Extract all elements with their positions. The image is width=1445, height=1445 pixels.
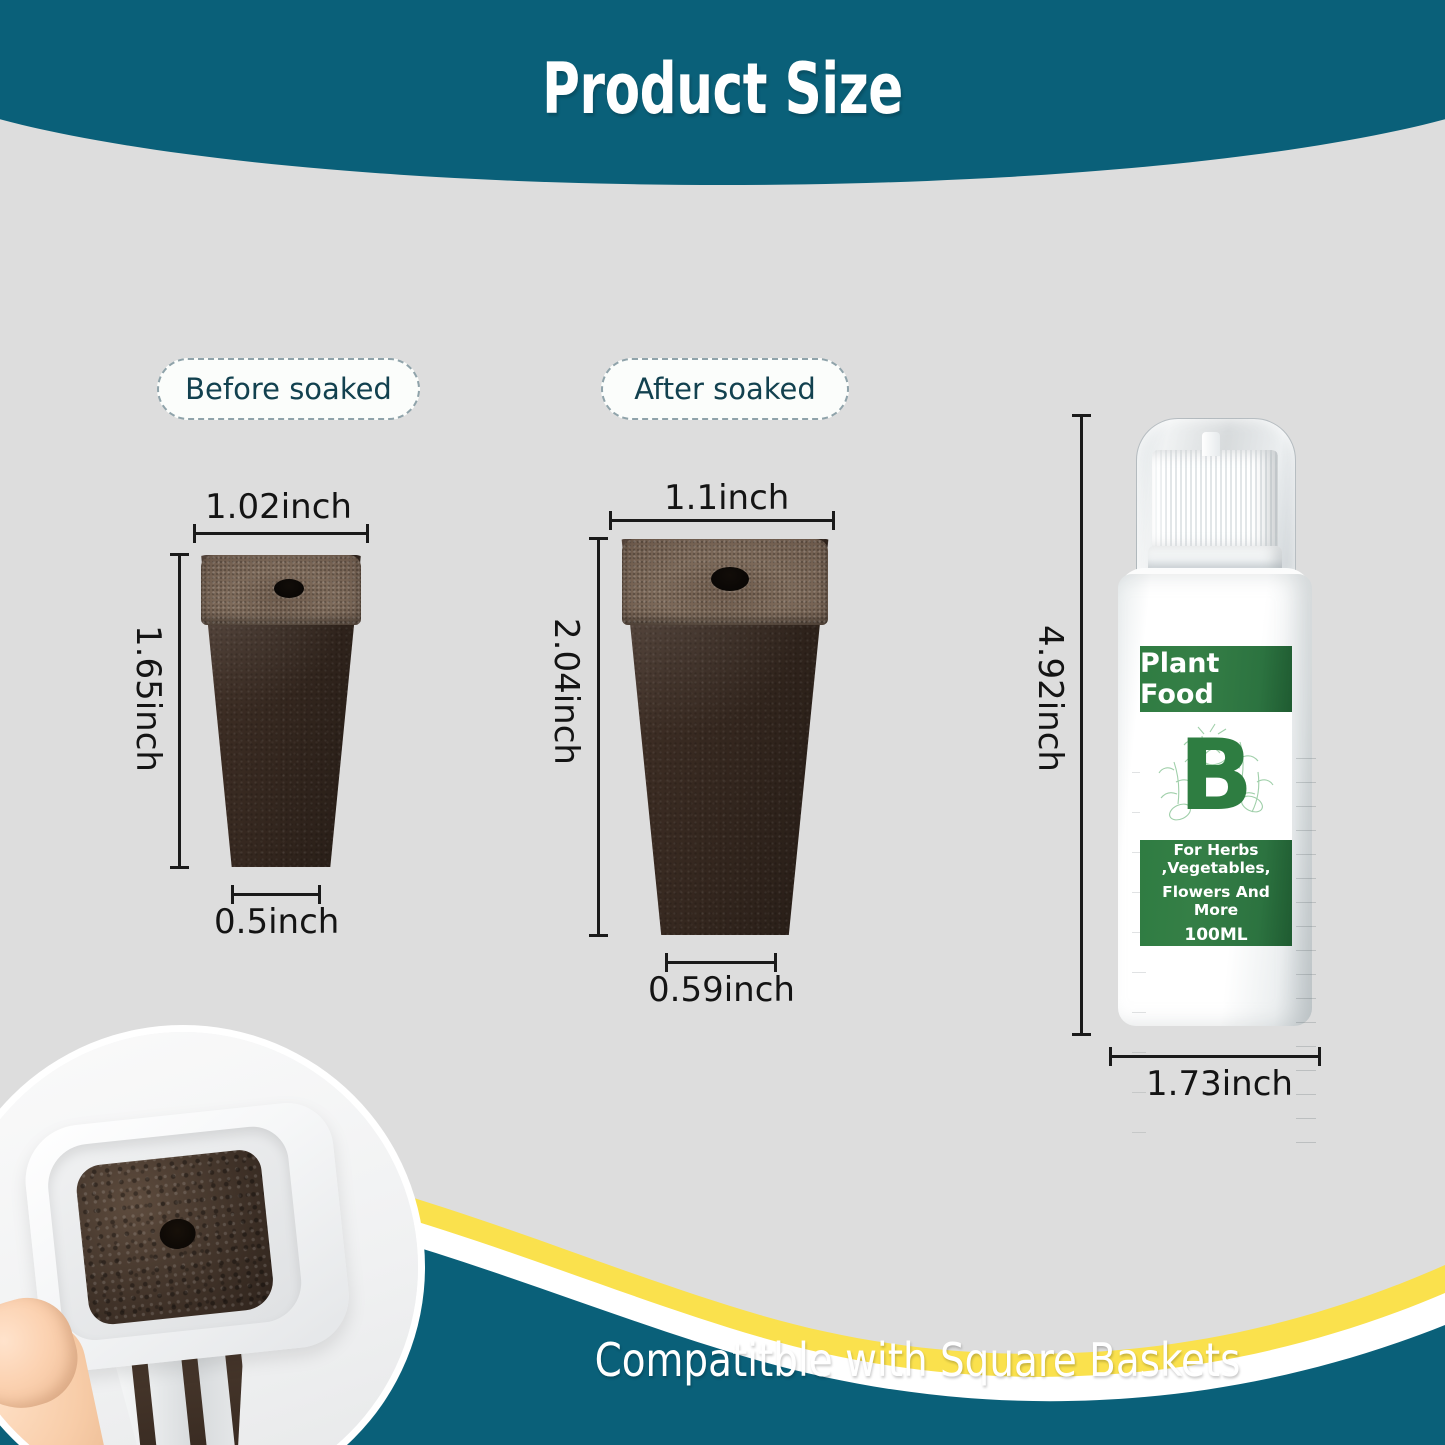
dim-label-before-bottom-width: 0.5inch (214, 902, 339, 942)
bottle-label-description: For Herbs ,Vegetables, Flowers And More … (1140, 840, 1292, 946)
dim-label-after-height: 2.04inch (546, 618, 586, 765)
bottle-body: Plant Food (1118, 574, 1312, 1026)
page-title: Product Size (130, 48, 1315, 130)
header-banner: Product Size (0, 0, 1445, 200)
bottle-cap-nub (1202, 432, 1220, 456)
bottle-desc-line-2: Flowers And More (1140, 883, 1292, 919)
bottle-logo-letter: B (1140, 712, 1292, 840)
dim-label-before-top-width: 1.02inch (205, 487, 352, 527)
bottle-desc-line-1: For Herbs ,Vegetables, (1140, 841, 1292, 877)
dim-line-after-bottom-width (665, 953, 777, 971)
dim-label-bottle-height: 4.92inch (1030, 625, 1070, 772)
dim-line-before-top-width (193, 524, 369, 542)
bottle-cap (1152, 450, 1278, 550)
sponge-hole-icon (711, 567, 749, 591)
sponge-image-after-soaked (615, 539, 835, 935)
dim-label-bottle-width: 1.73inch (1146, 1064, 1293, 1104)
basket-compatibility-photo (0, 1032, 418, 1445)
dim-line-bottle-width (1109, 1047, 1321, 1065)
plant-food-bottle-image: Plant Food (1110, 418, 1320, 1033)
bottle-label-title: Plant Food (1140, 646, 1292, 712)
dim-line-bottle-height (1072, 414, 1090, 1036)
dim-label-before-height: 1.65inch (128, 625, 168, 772)
footer-caption: Compatitble with Square Baskets (422, 1333, 1414, 1387)
product-size-infographic: Product Size Before soaked After soaked … (0, 0, 1445, 1445)
dim-label-after-bottom-width: 0.59inch (648, 970, 795, 1010)
bottle-right-scale-markings (1296, 748, 1316, 1148)
sponge-image-before-soaked (196, 555, 366, 867)
badge-after-soaked: After soaked (601, 358, 849, 420)
soaked-sponge-plug (74, 1148, 276, 1327)
bottle-volume: 100ML (1184, 925, 1247, 945)
sponge-hole-icon (274, 579, 304, 598)
badge-before-soaked: Before soaked (157, 358, 420, 420)
dim-line-before-bottom-width (231, 885, 321, 903)
dim-line-before-height (170, 553, 188, 869)
dim-line-after-height (589, 537, 607, 937)
bottle-label-logo-panel: B (1140, 712, 1292, 840)
dim-line-after-top-width (609, 511, 835, 529)
